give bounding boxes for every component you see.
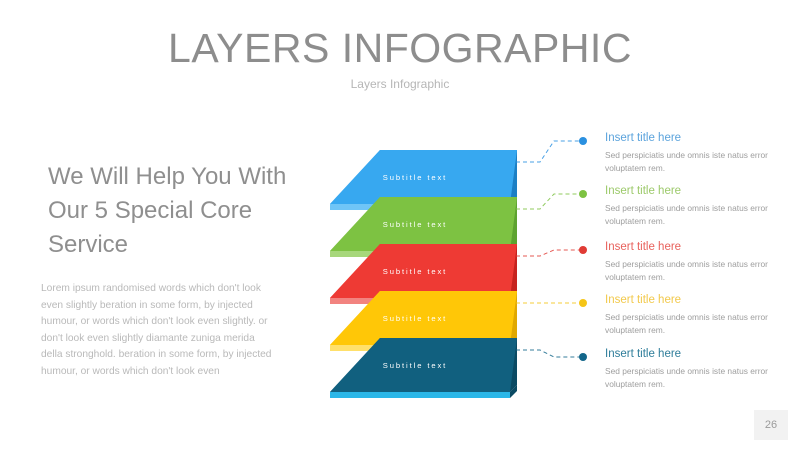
entry-title: Insert title here [605,131,785,146]
connector-dot [579,190,587,198]
body-paragraph: Lorem ipsum randomised words which don't… [41,281,273,380]
entry-title: Insert title here [605,347,785,362]
connector-dot [579,137,587,145]
layer-stack: Subtitle textSubtitle textSubtitle textS… [320,140,550,400]
entry-item[interactable]: Insert title hereSed perspiciatis unde o… [605,347,785,390]
lead-heading: We Will Help You With Our 5 Special Core… [48,160,298,262]
layer-top-face [330,338,517,392]
entry-item[interactable]: Insert title hereSed perspiciatis unde o… [605,131,785,174]
entry-description: Sed perspiciatis unde omnis iste natus e… [605,258,785,284]
connector-dot [579,246,587,254]
connector-dot [579,299,587,307]
entry-title: Insert title here [605,240,785,255]
entry-item[interactable]: Insert title hereSed perspiciatis unde o… [605,184,785,227]
entry-description: Sed perspiciatis unde omnis iste natus e… [605,365,785,391]
entry-description: Sed perspiciatis unde omnis iste natus e… [605,149,785,175]
page-title: LAYERS INFOGRAPHIC [0,26,800,71]
entry-item[interactable]: Insert title hereSed perspiciatis unde o… [605,240,785,283]
entry-title: Insert title here [605,293,785,308]
slide-canvas: LAYERS INFOGRAPHIC Layers Infographic We… [0,0,800,450]
entry-item[interactable]: Insert title hereSed perspiciatis unde o… [605,293,785,336]
layer-front-edge [330,392,510,398]
page-number-badge: 26 [754,410,788,440]
page-subtitle: Layers Infographic [0,77,800,91]
entry-description: Sed perspiciatis unde omnis iste natus e… [605,202,785,228]
connector-dot [579,353,587,361]
page-number: 26 [765,419,777,431]
entry-title: Insert title here [605,184,785,199]
layer-slab[interactable]: Subtitle text [320,328,550,404]
entry-description: Sed perspiciatis unde omnis iste natus e… [605,311,785,337]
